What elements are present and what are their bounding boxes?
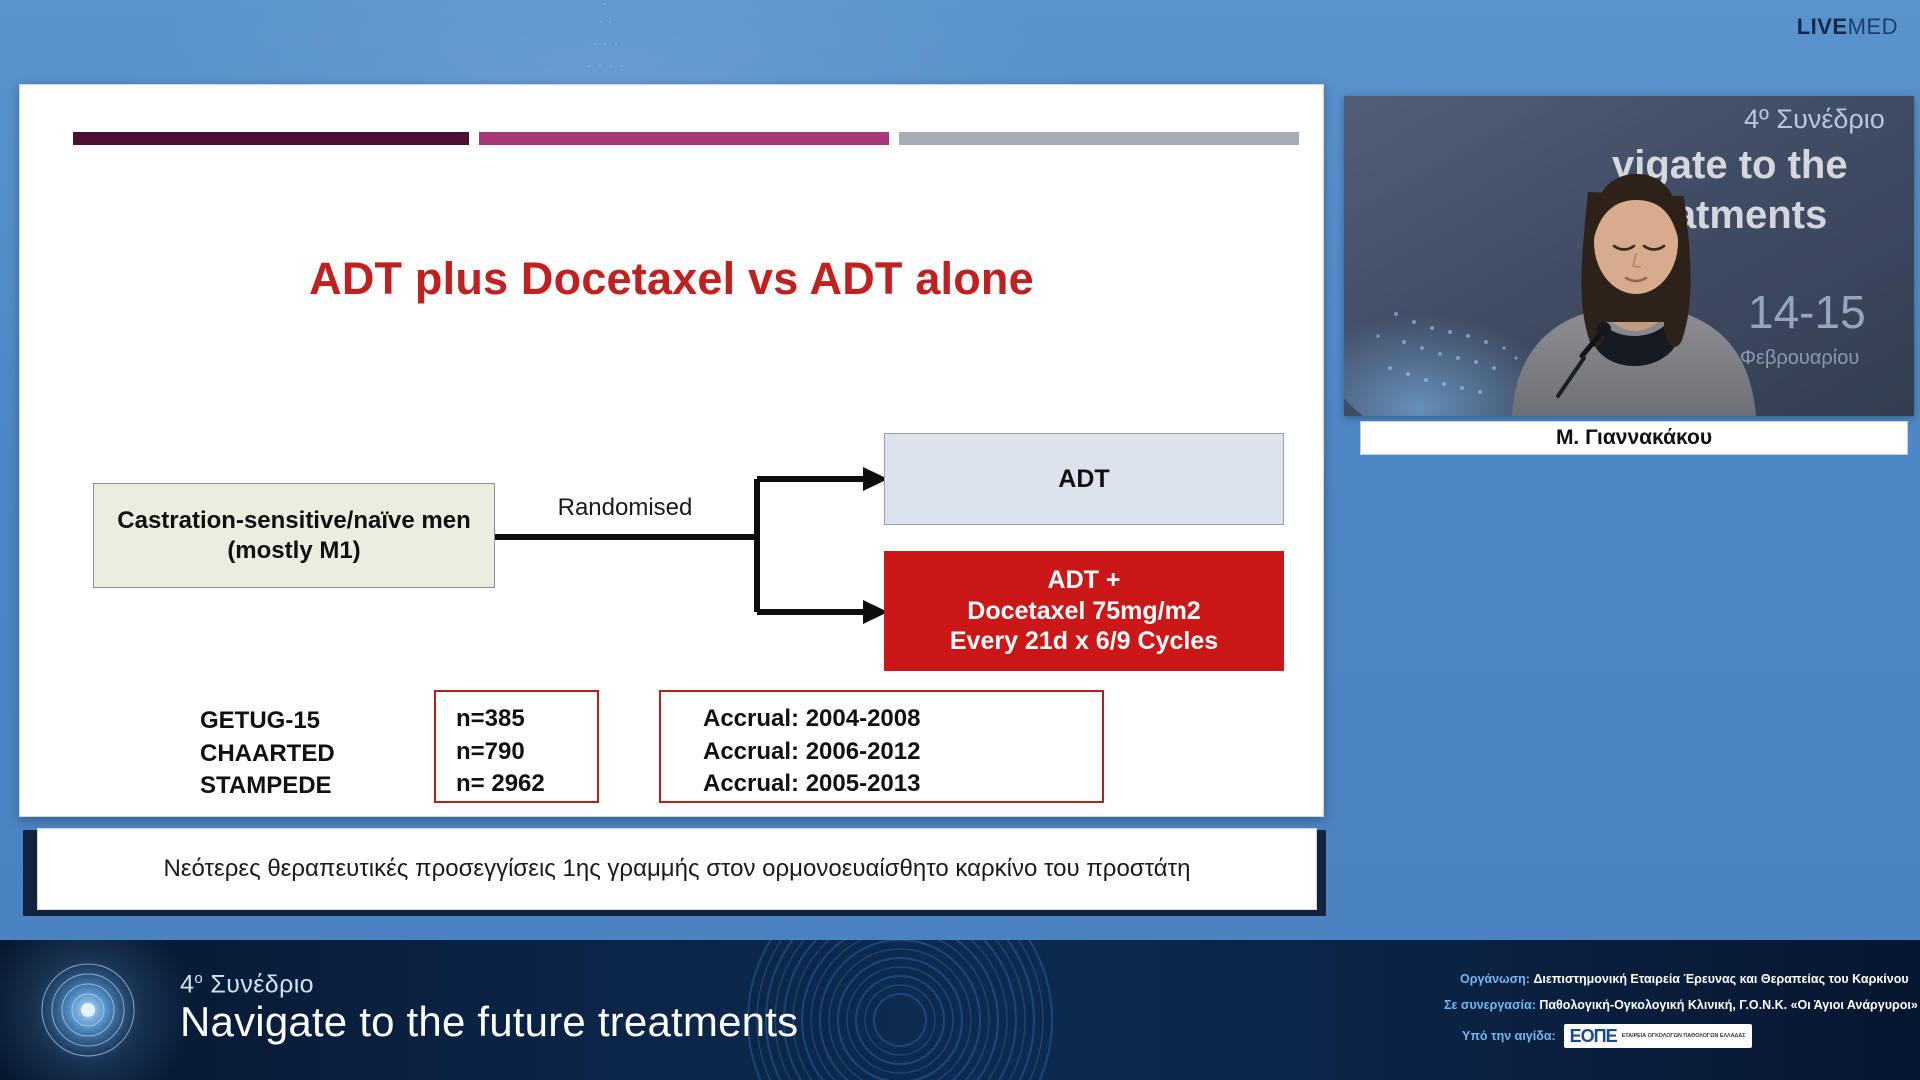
footer-credit-organizer: Οργάνωση: Διεπιστημονική Εταιρεία Έρευνα… (1460, 972, 1909, 986)
svg-text:4º Συνέδριο: 4º Συνέδριο (1744, 104, 1885, 134)
svg-text:Φεβρουαρίου: Φεβρουαρίου (1740, 347, 1859, 369)
speaker-video-panel[interactable]: 4º Συνέδριο vigate to the reatments 14-1… (1344, 96, 1914, 416)
arm-experimental-line-2: Docetaxel 75mg/m2 (967, 596, 1200, 627)
trial-n-0: n=385 (456, 703, 597, 736)
trial-accrual-2: Accrual: 2005-2013 (703, 768, 1102, 801)
trial-n-2: n= 2962 (456, 768, 597, 801)
session-title: Νεότερες θεραπευτικές προσεγγίσεις 1ης γ… (37, 828, 1317, 910)
footer-credit-auspices-key: Υπό την αιγίδα: (1462, 1029, 1556, 1043)
eope-logo-mark: ΕΟΠΕ (1570, 1027, 1617, 1045)
svg-text:14-15: 14-15 (1748, 286, 1866, 338)
footer-credit-organizer-value: Διεπιστημονική Εταιρεία Έρευνας και Θερα… (1533, 972, 1908, 986)
footer-globe-icon (18, 948, 158, 1072)
population-box: Castration-sensitive/naïve men (mostly M… (93, 483, 495, 588)
eope-logo-subtitle: ΕΤΑΙΡΕΙΑ ΟΓΚΟΛΟΓΩΝ ΠΑΘΟΛΟΓΩΝ ΕΛΛΑΔΑΣ (1622, 1033, 1746, 1039)
arm-experimental-box: ADT + Docetaxel 75mg/m2 Every 21d x 6/9 … (884, 551, 1284, 671)
arm-control-label: ADT (1058, 464, 1109, 495)
eope-sponsor-logo[interactable]: ΕΟΠΕ ΕΤΑΙΡΕΙΑ ΟΓΚΟΛΟΓΩΝ ΠΑΘΟΛΟΓΩΝ ΕΛΛΑΔΑ… (1564, 1024, 1752, 1048)
conference-number-sup: ο (194, 970, 203, 987)
footer-credit-collaboration: Σε συνεργασία: Παθολογική-Ογκολογική Κλι… (1444, 998, 1918, 1012)
arm-control-box: ADT (884, 433, 1284, 525)
livemed-logo: LIVEMED (1797, 16, 1898, 38)
population-box-text: Castration-sensitive/naïve men (mostly M… (102, 506, 486, 565)
speaker-name: Μ. Γιαννακάκου (1556, 426, 1712, 450)
trial-name-1: CHAARTED (200, 738, 430, 771)
trial-name-2: STAMPEDE (200, 770, 430, 803)
app-background: LIVEMED ADT plus Docetaxel vs ADT alone (0, 0, 1920, 1080)
randomised-label: Randomised (516, 494, 734, 522)
trial-name-0: GETUG-15 (200, 705, 430, 738)
trial-accrual-1: Accrual: 2006-2012 (703, 736, 1102, 769)
conference-number: 4 (180, 970, 194, 998)
session-title-text: Νεότερες θεραπευτικές προσεγγίσεις 1ης γ… (164, 853, 1191, 885)
trial-name-list: GETUG-15 CHAARTED STAMPEDE (200, 705, 430, 803)
logo-live-text: LIVE (1797, 14, 1848, 39)
footer-credit-collaboration-key: Σε συνεργασία: (1444, 998, 1536, 1012)
trial-n-1: n=790 (456, 736, 597, 769)
trial-n-box: n=385 n=790 n= 2962 (434, 690, 599, 803)
trial-accrual-0: Accrual: 2004-2008 (703, 703, 1102, 736)
arm-experimental-line-1: ADT + (1048, 565, 1121, 596)
presentation-slide: ADT plus Docetaxel vs ADT alone (20, 85, 1323, 816)
conference-footer: 4ο Συνέδριο Navigate to the future treat… (0, 940, 1920, 1080)
conference-word: Συνέδριο (210, 970, 314, 998)
presentation-slide-frame[interactable]: ADT plus Docetaxel vs ADT alone (19, 84, 1324, 817)
conference-number-label: 4ο Συνέδριο (180, 970, 314, 999)
footer-credit-organizer-key: Οργάνωση: (1460, 972, 1530, 986)
speaker-name-bar: Μ. Γιαννακάκου (1360, 421, 1908, 455)
conference-title: Navigate to the future treatments (180, 998, 798, 1046)
footer-credit-collaboration-value: Παθολογική-Ογκολογική Κλινική, Γ.Ο.Ν.Κ. … (1539, 998, 1917, 1012)
speaker-video-frame: 4º Συνέδριο vigate to the reatments 14-1… (1344, 96, 1914, 416)
logo-med-text: MED (1848, 14, 1898, 39)
arm-experimental-line-3: Every 21d x 6/9 Cycles (950, 626, 1218, 657)
footer-credit-auspices: Υπό την αιγίδα: ΕΟΠΕ ΕΤΑΙΡΕΙΑ ΟΓΚΟΛΟΓΩΝ … (1462, 1024, 1752, 1048)
trial-accrual-box: Accrual: 2004-2008 Accrual: 2006-2012 Ac… (659, 690, 1104, 803)
